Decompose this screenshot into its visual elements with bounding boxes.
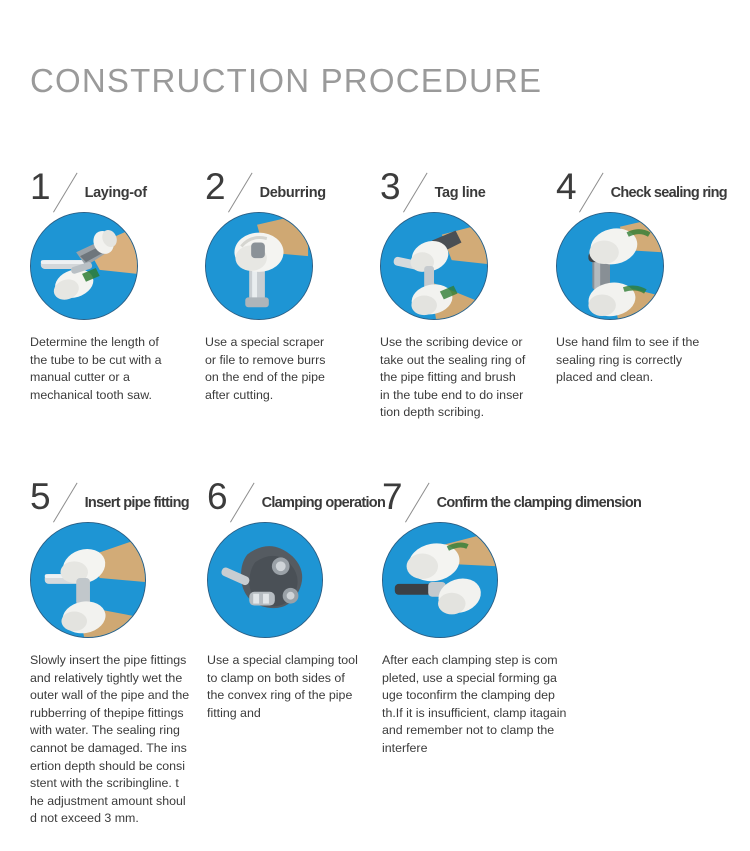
step-2: 2 Deburring Use a special scraper or fil… bbox=[205, 160, 380, 404]
step-1-header: 1 Laying-of bbox=[30, 160, 205, 206]
step-7-header: 7 Confirm the clamping dimension bbox=[382, 470, 592, 516]
insert-pipe-fitting-photo bbox=[30, 522, 146, 638]
step-5-label: Insert pipe fitting bbox=[85, 495, 189, 516]
step-4-number: 4 bbox=[556, 168, 577, 206]
step-3-description: Use the scribing device or take out the … bbox=[380, 334, 565, 422]
pipe-cutter-photo bbox=[30, 212, 138, 320]
slash-divider-icon bbox=[577, 168, 611, 206]
step-7-number: 7 bbox=[382, 478, 403, 516]
page-title: CONSTRUCTION PROCEDURE bbox=[30, 62, 542, 100]
slash-divider-icon bbox=[401, 168, 435, 206]
slash-divider-icon bbox=[51, 478, 85, 516]
step-6-header: 6 Clamping operation bbox=[207, 470, 387, 516]
step-6: 6 Clamping operation Use a special clamp… bbox=[207, 470, 387, 722]
step-3: 3 Tag line Use the scribing device or ta… bbox=[380, 160, 565, 422]
step-1-number: 1 bbox=[30, 168, 51, 206]
step-5-number: 5 bbox=[30, 478, 51, 516]
slash-divider-icon bbox=[51, 168, 85, 206]
step-6-label: Clamping operation bbox=[262, 495, 386, 516]
slash-divider-icon bbox=[228, 478, 262, 516]
step-4-label: Check sealing ring bbox=[611, 185, 727, 206]
check-sealing-ring-photo bbox=[556, 212, 664, 320]
step-2-number: 2 bbox=[205, 168, 226, 206]
construction-procedure-infographic: CONSTRUCTION PROCEDURE 1 Laying-of bbox=[0, 0, 750, 851]
clamping-tool-photo bbox=[207, 522, 323, 638]
step-6-number: 6 bbox=[207, 478, 228, 516]
step-3-number: 3 bbox=[380, 168, 401, 206]
step-2-header: 2 Deburring bbox=[205, 160, 380, 206]
slash-divider-icon bbox=[403, 478, 437, 516]
step-1: 1 Laying-of Determine the length of the … bbox=[30, 160, 205, 404]
step-6-description: Use a special clamping tool to clamp on … bbox=[207, 652, 387, 722]
slash-divider-icon bbox=[226, 168, 260, 206]
step-5-header: 5 Insert pipe fitting bbox=[30, 470, 215, 516]
confirm-clamping-dimension-photo bbox=[382, 522, 498, 638]
step-1-description: Determine the length of the tube to be c… bbox=[30, 334, 205, 404]
step-3-label: Tag line bbox=[435, 185, 486, 206]
step-7: 7 Confirm the clamping dimension After e… bbox=[382, 470, 592, 758]
step-5-description: Slowly insert the pipe fittings and rela… bbox=[30, 652, 215, 828]
step-3-header: 3 Tag line bbox=[380, 160, 565, 206]
step-2-label: Deburring bbox=[260, 185, 326, 206]
step-2-description: Use a special scraper or file to remove … bbox=[205, 334, 380, 404]
deburring-scraper-photo bbox=[205, 212, 313, 320]
step-7-label: Confirm the clamping dimension bbox=[437, 495, 642, 516]
step-4: 4 Check sealing ring Use hand film to se… bbox=[556, 160, 736, 387]
step-4-header: 4 Check sealing ring bbox=[556, 160, 736, 206]
step-1-label: Laying-of bbox=[85, 185, 147, 206]
scribing-device-photo bbox=[380, 212, 488, 320]
step-7-description: After each clamping step is com pleted, … bbox=[382, 652, 592, 758]
step-4-description: Use hand film to see if the sealing ring… bbox=[556, 334, 736, 387]
step-5: 5 Insert pipe fitting Slowly insert the … bbox=[30, 470, 215, 828]
